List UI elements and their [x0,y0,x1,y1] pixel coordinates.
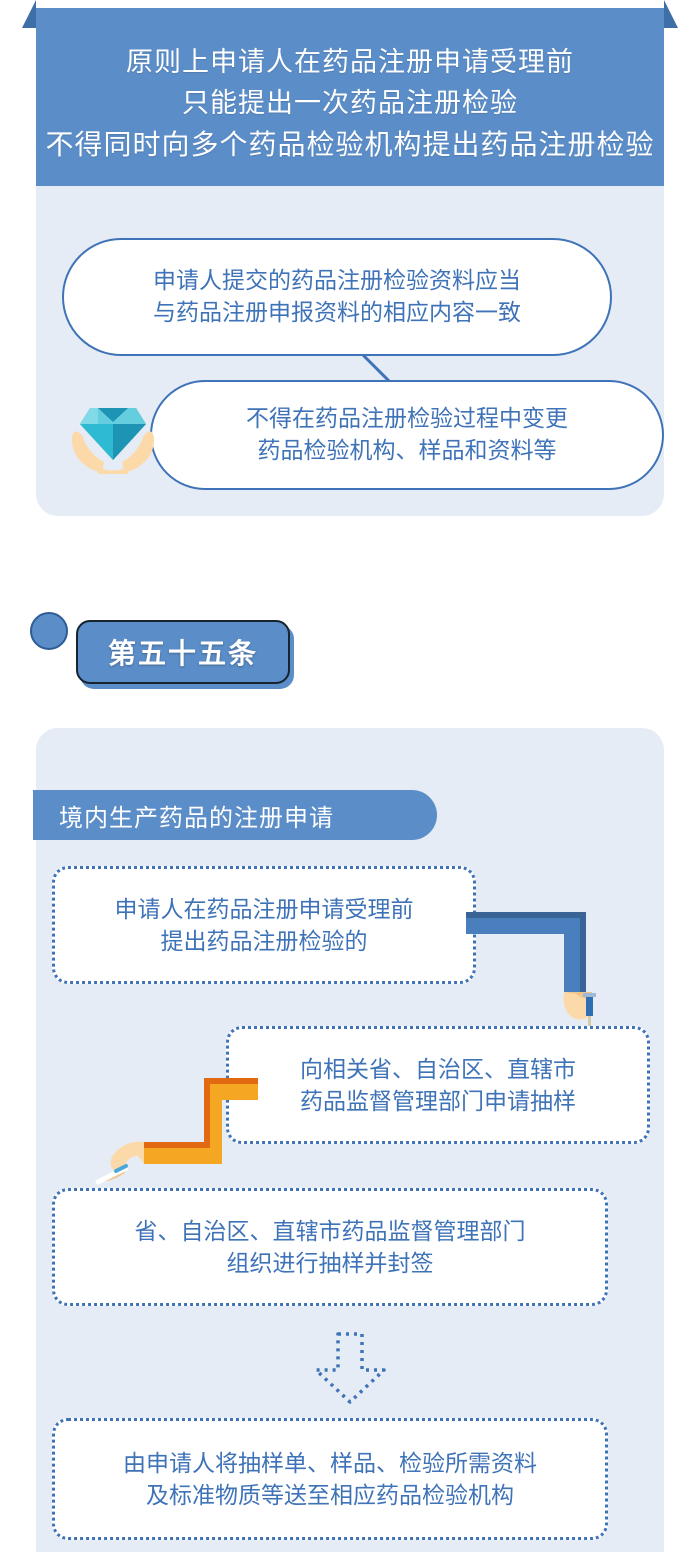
section-two-header: 境内生产药品的注册申请 [33,790,437,840]
step-line: 提出药品注册检验的 [161,925,368,957]
article-number-badge[interactable]: 第五十五条 [76,620,290,684]
step-organize-sampling: 省、自治区、直辖市药品监督管理部门 组织进行抽样并封签 [52,1188,608,1306]
step-line: 向相关省、自治区、直辖市 [300,1053,576,1085]
banner-fold-left-icon [22,0,36,28]
step-request-sampling: 向相关省、自治区、直辖市 药品监督管理部门申请抽样 [226,1026,650,1144]
blue-arm-connector-icon [466,900,616,1030]
step-line: 及标准物质等送至相应药品检验机构 [146,1479,514,1511]
bubble-line: 不得在药品注册检验过程中变更 [246,403,568,435]
bubble-no-change-rule: 不得在药品注册检验过程中变更 药品检验机构、样品和资料等 [150,380,664,490]
step-line: 申请人在药品注册申请受理前 [115,893,414,925]
orange-arm-connector-icon [92,1072,258,1188]
step-line: 药品监督管理部门申请抽样 [300,1085,576,1117]
article-circle-marker [30,612,68,650]
bubble-line: 药品检验机构、样品和资料等 [258,435,557,467]
step-line: 省、自治区、直辖市药品监督管理部门 [135,1215,526,1247]
banner-line-3: 不得同时向多个药品检验机构提出药品注册检验 [45,127,654,163]
down-arrow-icon [296,1330,404,1406]
bubble-line: 与药品注册申报资料的相应内容一致 [153,297,521,329]
bubble-consistency-rule: 申请人提交的药品注册检验资料应当 与药品注册申报资料的相应内容一致 [62,238,612,356]
article-number-label: 第五十五条 [108,632,258,672]
section-two-header-label: 境内生产药品的注册申请 [59,798,334,833]
diamond-in-hands-icon [70,392,156,476]
step-apply-before-acceptance: 申请人在药品注册申请受理前 提出药品注册检验的 [52,866,476,984]
step-line: 由申请人将抽样单、样品、检验所需资料 [123,1447,537,1479]
top-banner: 原则上申请人在药品注册申请受理前 只能提出一次药品注册检验 不得同时向多个药品检… [22,0,678,200]
banner-line-2: 只能提出一次药品注册检验 [182,86,518,121]
banner-line-1: 原则上申请人在药品注册申请受理前 [126,45,574,80]
bubble-line: 申请人提交的药品注册检验资料应当 [153,265,521,297]
banner-body: 原则上申请人在药品注册申请受理前 只能提出一次药品注册检验 不得同时向多个药品检… [36,8,664,200]
banner-fold-right-icon [664,0,678,28]
step-deliver-samples: 由申请人将抽样单、样品、检验所需资料 及标准物质等送至相应药品检验机构 [52,1418,608,1540]
step-line: 组织进行抽样并封签 [227,1247,434,1279]
